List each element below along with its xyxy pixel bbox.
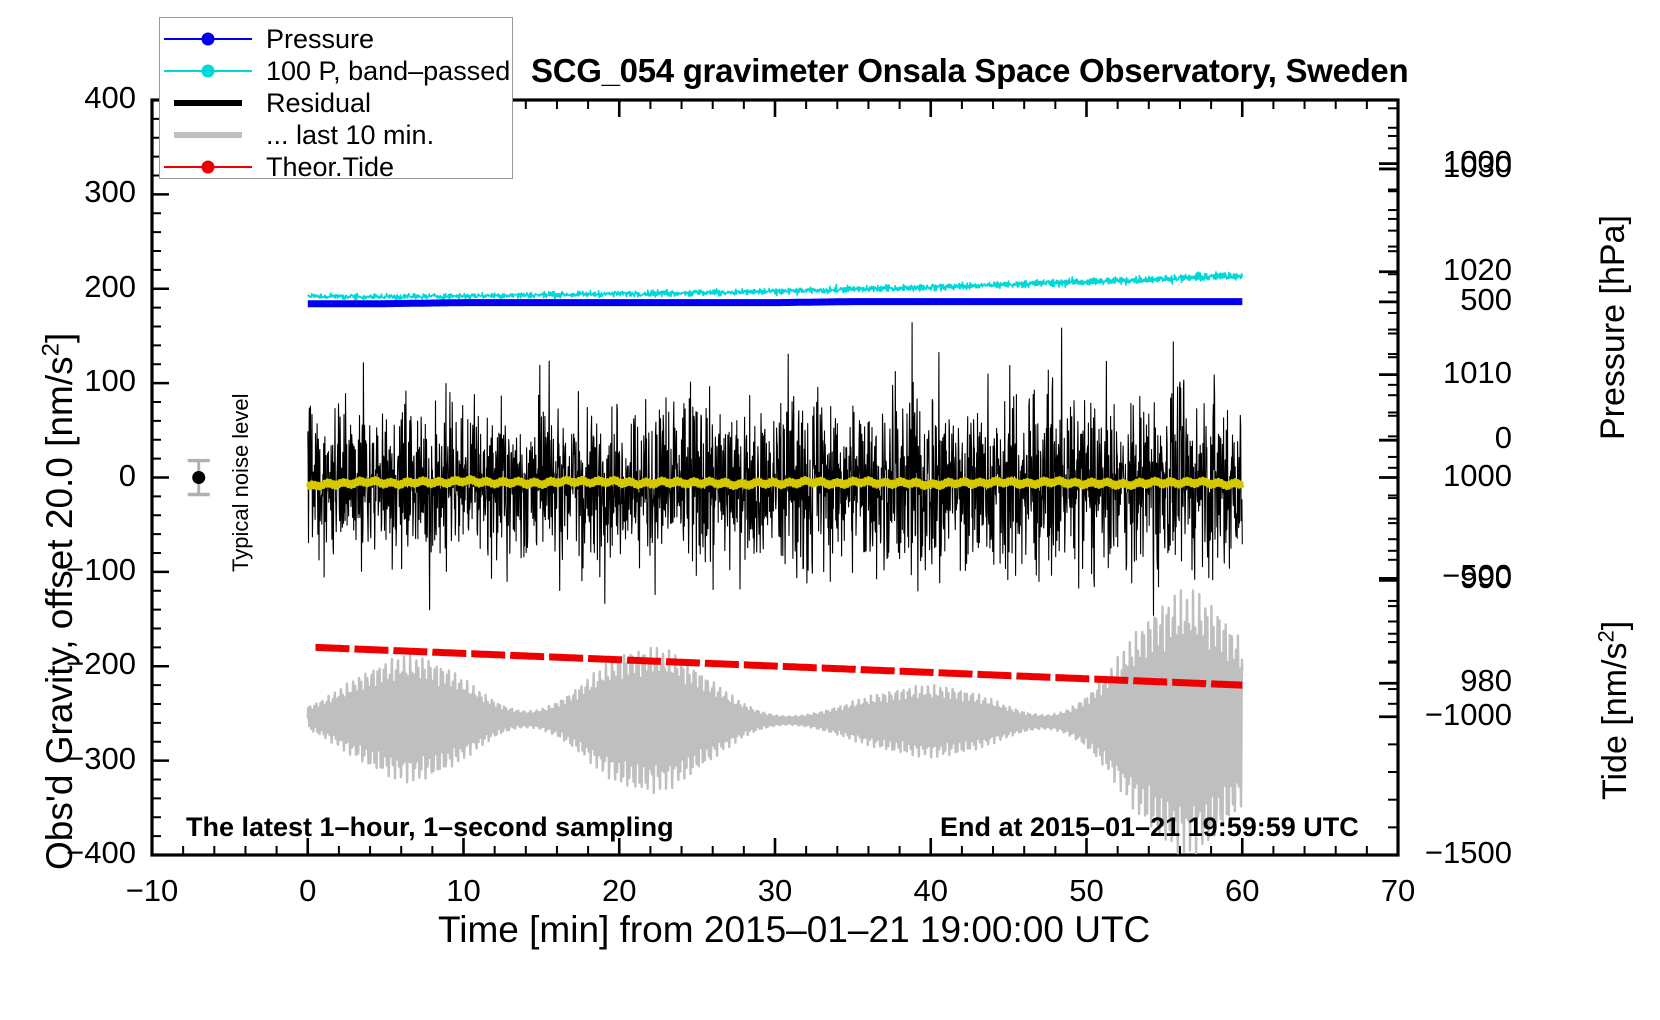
y-tick-label-left: −300	[66, 741, 136, 777]
y-tick-label-left: 400	[84, 80, 136, 116]
bottom-left-note: The latest 1–hour, 1–second sampling	[186, 812, 674, 843]
y-tick-label-left: −100	[66, 552, 136, 588]
typical-noise-level-label: Typical noise level	[228, 393, 254, 572]
y-axis-left-title: Obs'd Gravity, offset 20.0 [nm/s2]	[38, 333, 81, 870]
legend-label-pressure: Pressure	[256, 24, 374, 55]
typical-noise-level-errorbar	[188, 461, 210, 495]
x-tick-label: −10	[126, 873, 179, 909]
legend-swatch-residual	[160, 87, 256, 119]
y-tick-label-right-tide: 1000	[1420, 144, 1512, 180]
y-tick-label-right-pressure: 1010	[1420, 355, 1512, 391]
legend-label-tide: Theor.Tide	[256, 152, 394, 183]
x-axis-title-text: Time [min] from 2015–01–21 19:00:00 UTC	[438, 909, 1150, 950]
y-tick-label-right-tide: −500	[1420, 558, 1512, 594]
y-axis-right-pressure-title-text: Pressure [hPa]	[1594, 215, 1632, 440]
x-tick-label: 30	[758, 873, 792, 909]
legend-swatch-last10	[160, 119, 256, 151]
x-axis-title: Time [min] from 2015–01–21 19:00:00 UTC	[438, 909, 1150, 951]
y-tick-label-right-pressure: 980	[1420, 663, 1512, 699]
legend-swatch-bandpassed	[160, 55, 256, 87]
typical-noise-level-text: Typical noise level	[228, 393, 253, 572]
pressure-trace	[308, 302, 1243, 304]
legend-swatch-pressure	[160, 23, 256, 55]
y-tick-label-left: 300	[84, 174, 136, 210]
legend-item-last10: ... last 10 min.	[160, 119, 512, 151]
y-tick-label-left: −200	[66, 646, 136, 682]
legend-label-bandpassed: 100 P, band–passed	[256, 56, 510, 87]
legend-item-tide: Theor.Tide	[160, 151, 512, 183]
y-tick-label-right-tide: −1500	[1420, 835, 1512, 871]
x-tick-label: 70	[1381, 873, 1415, 909]
y-axis-right-pressure-title: Pressure [hPa]	[1594, 215, 1633, 440]
bandpassed-pressure-trace	[308, 272, 1243, 300]
y-axis-right-tide-title: Tide [nm/s2]	[1594, 621, 1635, 800]
legend-item-residual: Residual	[160, 87, 512, 119]
legend-swatch-tide	[160, 151, 256, 183]
y-tick-label-right-tide: −1000	[1420, 697, 1512, 733]
chart-title: SCG_054 gravimeter Onsala Space Observat…	[531, 52, 1408, 90]
y-tick-label-left: 0	[119, 458, 136, 494]
y-tick-label-left: 100	[84, 363, 136, 399]
legend-item-pressure: Pressure	[160, 23, 512, 55]
y-tick-label-right-tide: 500	[1420, 282, 1512, 318]
chart-legend: Pressure 100 P, band–passed Residual ...…	[159, 17, 513, 179]
x-tick-label: 0	[299, 873, 316, 909]
y-axis-right-tide-title-text: Tide [nm/s2]	[1596, 621, 1634, 800]
legend-label-last10: ... last 10 min.	[256, 120, 434, 151]
y-tick-label-right-pressure: 1000	[1420, 458, 1512, 494]
legend-item-bandpassed: 100 P, band–passed	[160, 55, 512, 87]
residual-trace	[308, 323, 1243, 616]
y-tick-label-left: −400	[66, 835, 136, 871]
bottom-right-note-text: End at 2015–01–21 19:59:59 UTC	[940, 812, 1359, 842]
bottom-right-note: End at 2015–01–21 19:59:59 UTC	[940, 812, 1359, 843]
x-tick-label: 20	[602, 873, 636, 909]
y-tick-label-right-tide: 0	[1420, 420, 1512, 456]
x-tick-label: 50	[1069, 873, 1103, 909]
y-axis-left-title-text: Obs'd Gravity, offset 20.0 [nm/s2]	[39, 333, 80, 870]
y-tick-label-left: 200	[84, 269, 136, 305]
bottom-left-note-text: The latest 1–hour, 1–second sampling	[186, 812, 674, 842]
legend-label-residual: Residual	[256, 88, 371, 119]
x-tick-label: 10	[446, 873, 480, 909]
x-tick-label: 40	[914, 873, 948, 909]
x-tick-label: 60	[1225, 873, 1259, 909]
